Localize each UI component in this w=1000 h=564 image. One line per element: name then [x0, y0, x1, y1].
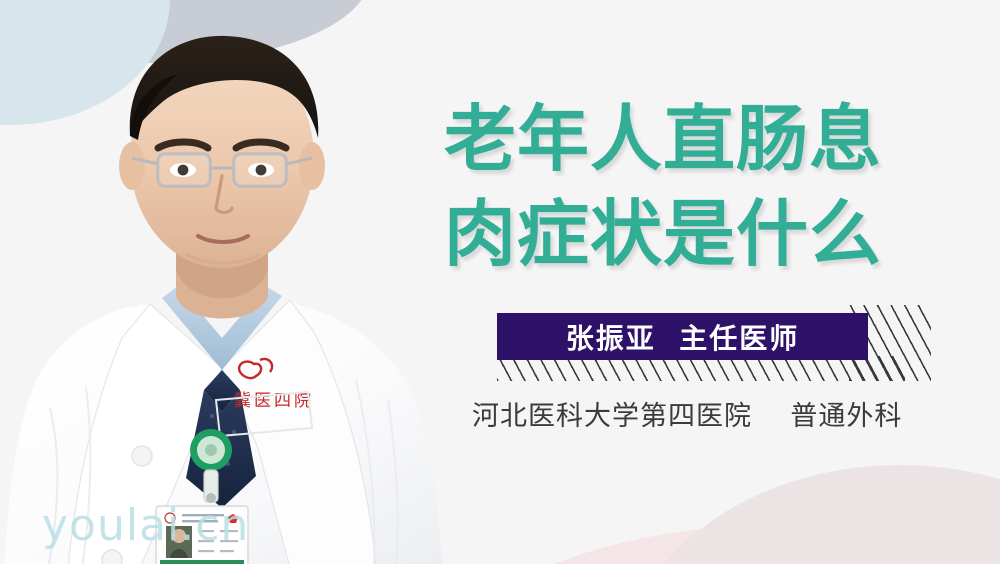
doctor-portrait: 冀医四院 [0, 8, 460, 564]
doctor-name-badge-area: 张振亚 主任医师 [497, 313, 927, 381]
title-line-2: 肉症状是什么 [444, 187, 944, 282]
doctor-name-title: 张振亚 主任医师 [566, 317, 800, 357]
title-line-1: 老年人直肠息 [444, 92, 944, 187]
decor-circle-bottom-right-pink [620, 465, 1000, 564]
page-title: 老年人直肠息 肉症状是什么 [444, 92, 944, 282]
status-badge: 张振亚 主任医师 [497, 313, 868, 360]
doctor-affiliation: 河北医科大学第四医院 普通外科 [472, 394, 902, 433]
poster-canvas: 冀医四院 [0, 0, 1000, 564]
